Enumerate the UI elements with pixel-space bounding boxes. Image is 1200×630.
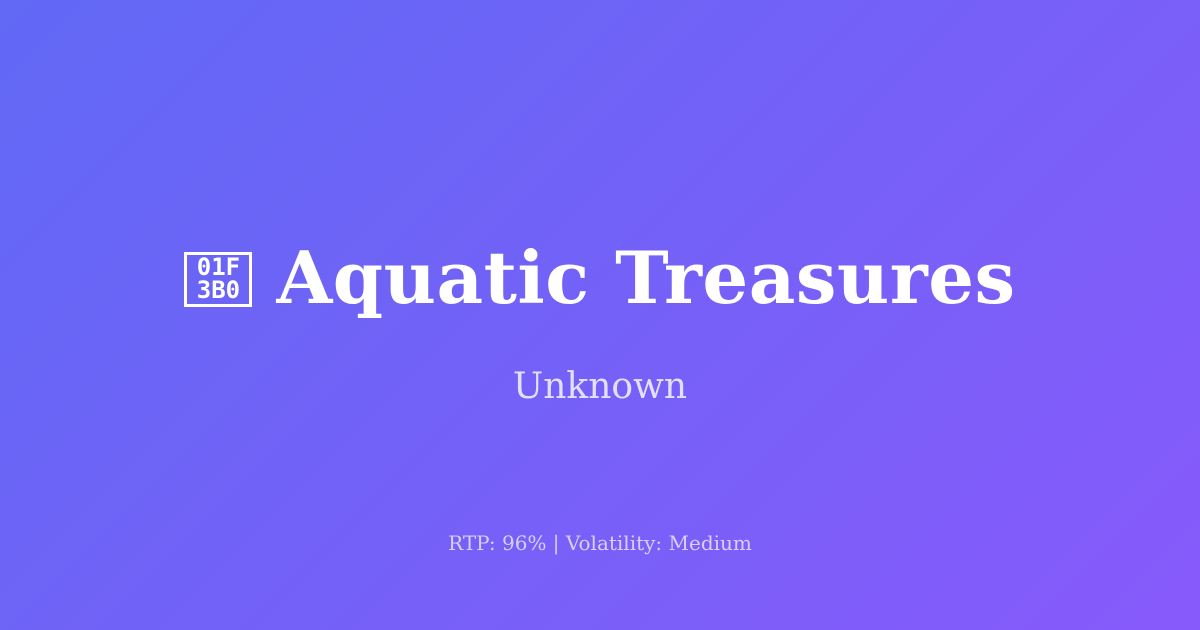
- game-provider-subtitle: Unknown: [0, 366, 1200, 408]
- game-stats-line: RTP: 96% | Volatility: Medium: [0, 530, 1200, 556]
- slot-machine-icon: 01F 3B0: [184, 252, 252, 307]
- title-row: 01F 3B0 Aquatic Treasures: [0, 232, 1200, 324]
- tofu-codepoint-line-bottom: 3B0: [197, 279, 240, 302]
- game-title: Aquatic Treasures: [276, 242, 1015, 314]
- game-preview-card: 01F 3B0 Aquatic Treasures Unknown RTP: 9…: [0, 0, 1200, 630]
